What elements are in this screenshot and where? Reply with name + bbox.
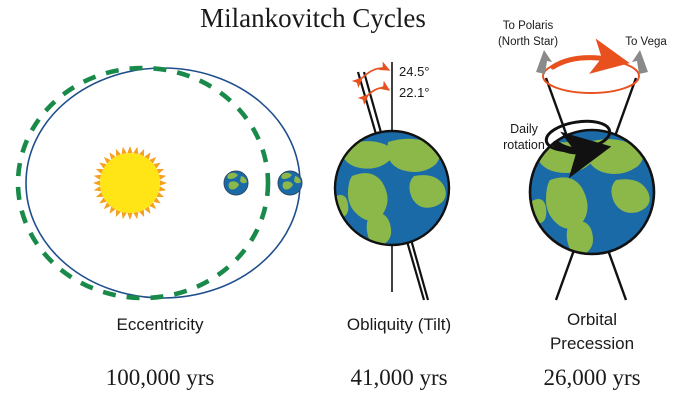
precession-direction-arrow [553,58,613,67]
daily-rotation-label-line2: rotation [503,138,545,152]
obliquity-angle-min: 22.1° [399,85,430,100]
daily-rotation-label-line1: Daily [510,122,539,136]
precession-caption-line1: Orbital [567,310,617,329]
eccentricity-period: 100,000 yrs [106,365,215,390]
sun [93,146,167,220]
to-vega-arrow-icon [632,50,648,74]
to-vega-label: To Vega [625,36,667,48]
to-polaris-arrow-icon [536,50,552,74]
precession-panel: To Polaris (North Star) To Vega [498,20,667,390]
precession-caption-line2: Precession [550,334,634,353]
to-polaris-label-line1: To Polaris [503,20,554,32]
obliquity-panel: 24.5° 22.1° Obliquity (Tilt) 41,000 yrs [330,62,451,390]
obliquity-period: 41,000 yrs [350,365,447,390]
earth-obliquity [330,131,449,246]
figure-title: Milankovitch Cycles [200,3,426,33]
earth-on-elliptical-orbit [278,171,302,195]
figure-canvas: Milankovitch Cycles [0,0,682,406]
obliquity-caption: Obliquity (Tilt) [347,315,451,334]
earth-on-circular-orbit [224,171,248,195]
obliquity-angle-max: 24.5° [399,64,430,79]
precession-period: 26,000 yrs [543,365,640,390]
to-polaris-label-line2: (North Star) [498,36,558,48]
eccentricity-panel: Eccentricity 100,000 yrs [18,68,302,390]
milankovitch-cycles-figure: Milankovitch Cycles [0,0,682,406]
sun-disc [100,153,160,213]
eccentricity-caption: Eccentricity [117,315,204,334]
